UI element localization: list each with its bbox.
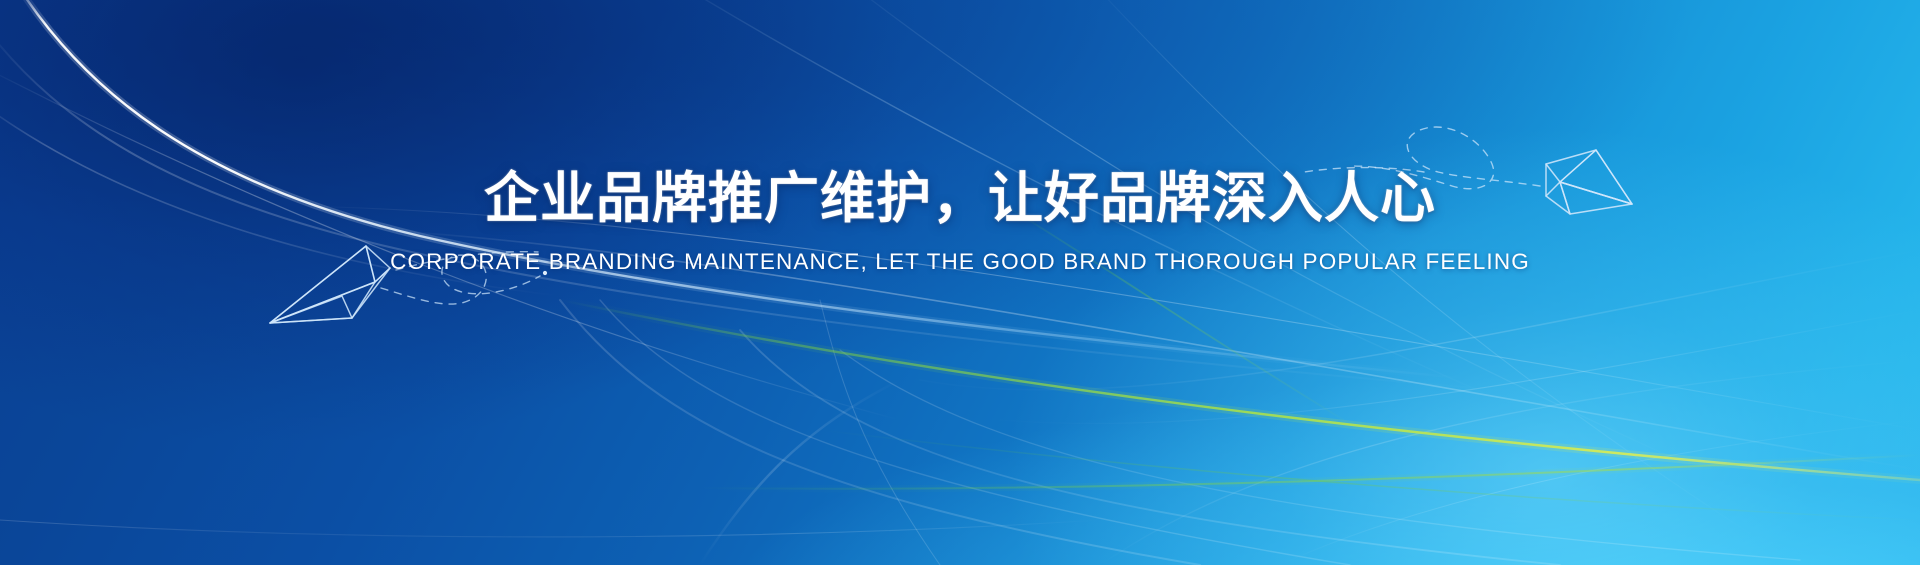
swoosh-curve-top-left <box>0 0 1920 565</box>
banner-text-block: 企业品牌推广维护，让好品牌深入人心 CORPORATE BRANDING MAI… <box>0 170 1920 275</box>
paper-plane-right-group <box>0 0 1920 565</box>
aurora-curves <box>0 0 1920 565</box>
light-streaks <box>0 0 1920 565</box>
page-title: 企业品牌推广维护，让好品牌深入人心 <box>0 170 1920 227</box>
banner-subtitle: CORPORATE BRANDING MAINTENANCE, LET THE … <box>0 249 1920 275</box>
paper-plane-left-group <box>0 0 1920 565</box>
hero-banner: 企业品牌推广维护，让好品牌深入人心 CORPORATE BRANDING MAI… <box>0 0 1920 565</box>
